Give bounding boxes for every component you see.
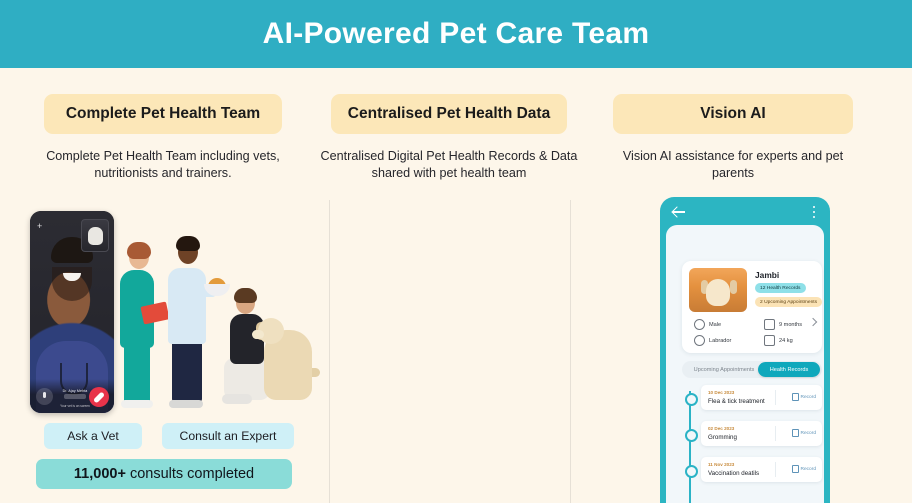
nutritionist-body <box>168 268 206 344</box>
ask-a-vet-button[interactable]: Ask a Vet <box>44 423 142 449</box>
video-call-phone-mockup: + Dr. Ajay Mehta Your vet is on screen <box>30 211 114 413</box>
consult-an-expert-button[interactable]: Consult an Expert <box>162 423 294 449</box>
ask-a-vet-label: Ask a Vet <box>67 429 119 443</box>
page-title: AI-Powered Pet Care Team <box>263 17 650 51</box>
microphone-mute-icon[interactable] <box>36 388 53 405</box>
action-button-row: Ask a Vet Consult an Expert <box>44 423 294 449</box>
pet-care-team-photo <box>112 218 307 418</box>
consult-an-expert-label: Consult an Expert <box>180 429 277 443</box>
add-participant-icon[interactable]: + <box>37 221 42 231</box>
nutritionist-legs <box>172 340 202 402</box>
page-header: AI-Powered Pet Care Team <box>0 0 912 68</box>
pet-care-infographic: AI-Powered Pet Care Team Complete Pet He… <box>0 0 912 503</box>
column-complete-pet-health-team: + Dr. Ajay Mehta Your vet is on screen <box>0 68 305 503</box>
column-centralised-pet-health-data: Jambi 12 Health Records 2 Upcoming Appoi… <box>305 68 585 503</box>
pip-dog-thumbnail[interactable] <box>81 219 109 252</box>
vet-legs <box>124 344 150 402</box>
call-status-text: Your vet is on screen <box>54 404 96 408</box>
end-call-icon[interactable] <box>89 387 109 407</box>
trainer-shoes <box>222 394 252 404</box>
trainer-hair <box>234 288 257 303</box>
caller-role-tag <box>64 394 86 399</box>
dog-snout <box>252 330 264 339</box>
call-control-bar: Dr. Ajay Mehta Your vet is on screen <box>30 379 114 413</box>
consults-completed-badge: 11,000+ consults completed <box>36 459 292 489</box>
clipboard-icon <box>140 301 169 324</box>
consults-count: 11,000+ <box>74 466 126 482</box>
vet-hair <box>127 242 151 259</box>
consults-label: consults completed <box>130 466 254 482</box>
nutritionist-hair <box>176 236 200 251</box>
caller-name: Dr. Ajay Mehta <box>57 389 93 393</box>
nutritionist-shoes <box>169 400 203 408</box>
column-vision-ai: Here are possible infections your dog ma… <box>585 68 912 503</box>
feature-columns: Complete Pet Health Team Centralised Pet… <box>0 68 912 503</box>
dog-thumbnail-image <box>88 227 103 245</box>
vet-shoes <box>121 400 153 408</box>
